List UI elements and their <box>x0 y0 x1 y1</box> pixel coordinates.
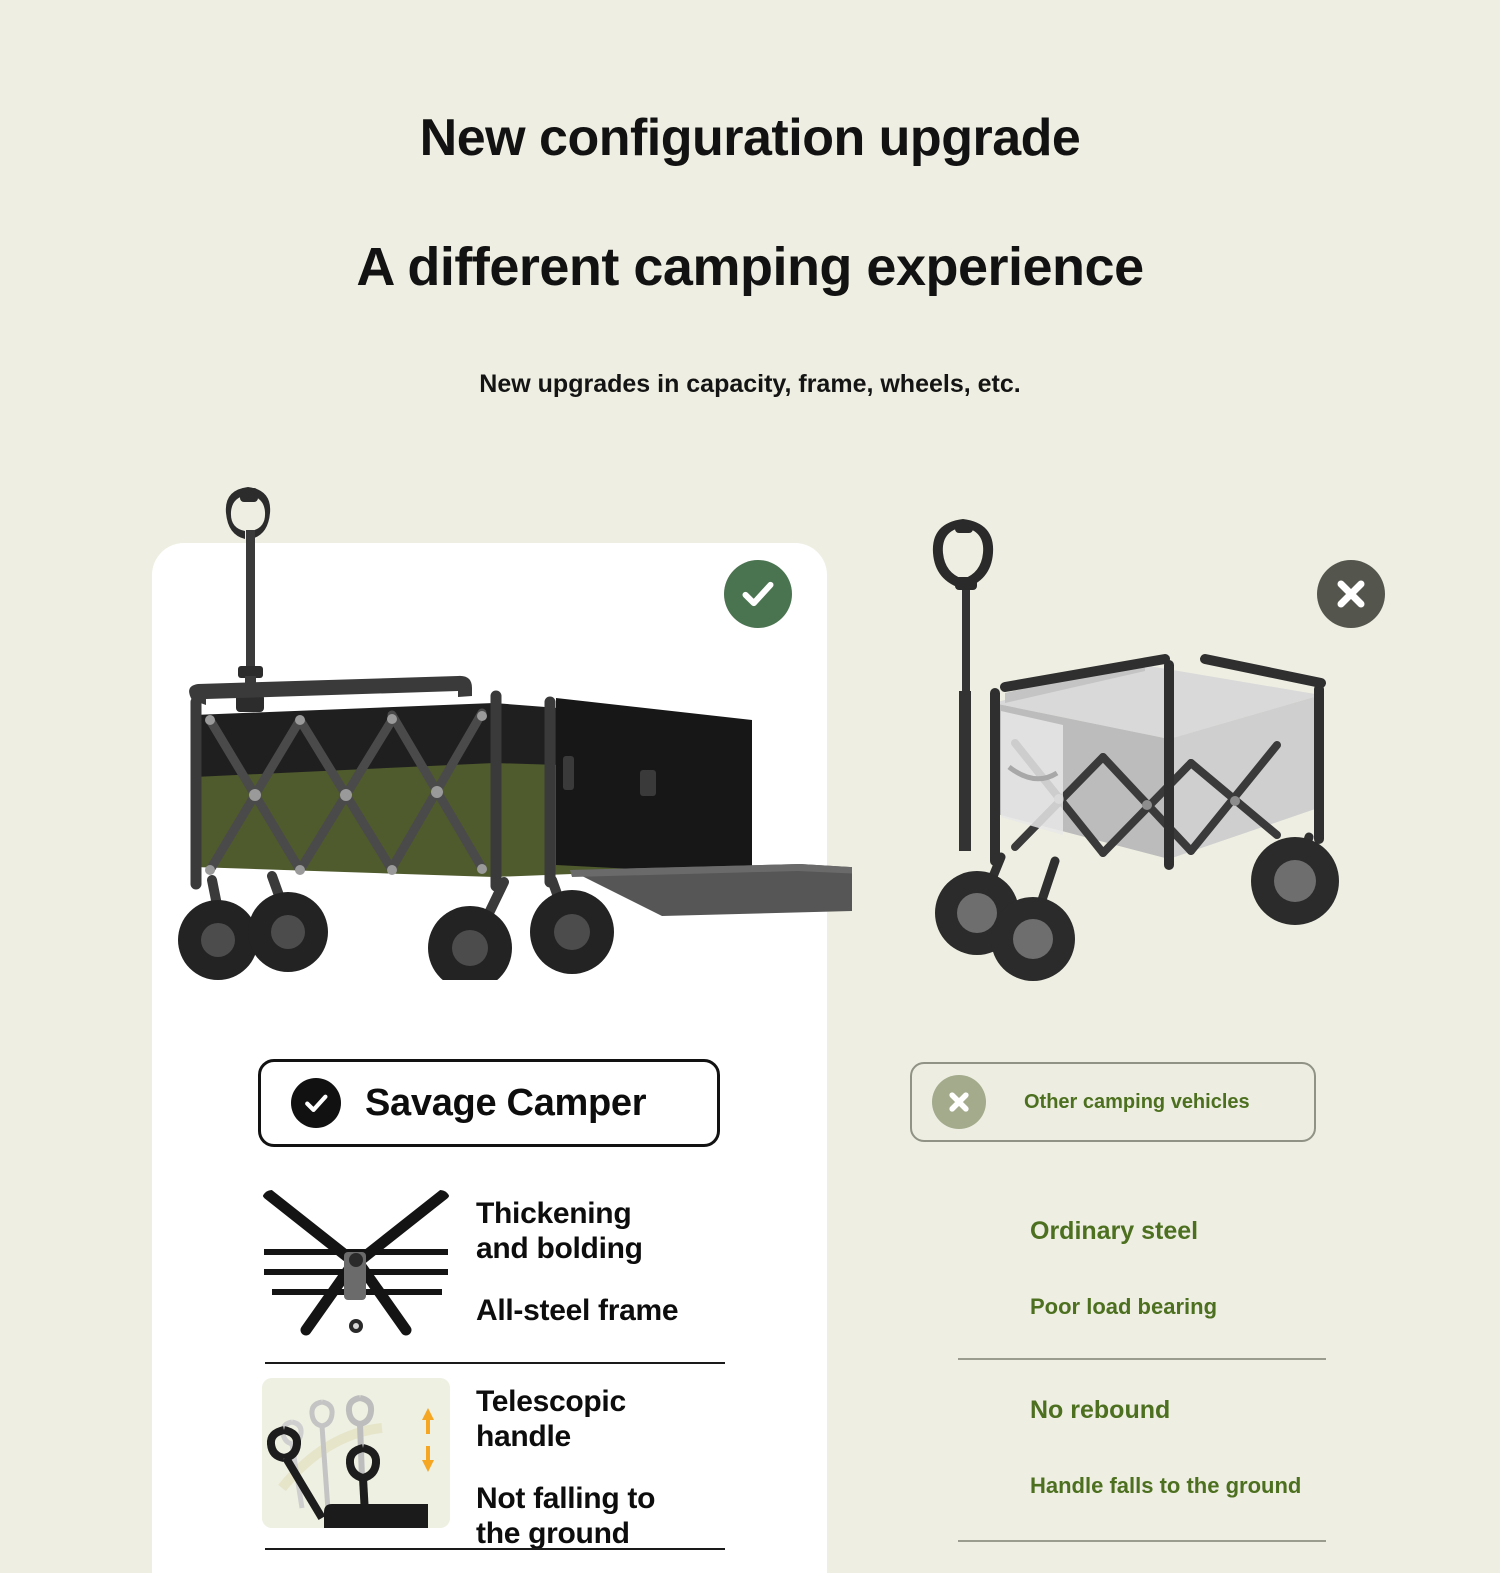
divider-right-2 <box>958 1540 1326 1542</box>
page-title-primary: New configuration upgrade <box>0 108 1500 168</box>
right-product-image <box>905 505 1385 985</box>
brand-label: Savage Camper <box>365 1082 646 1125</box>
x-circle-icon <box>1317 560 1385 628</box>
left-product-image <box>152 470 852 980</box>
divider-left-1 <box>265 1362 725 1364</box>
right-feature-handle: No rebound Handle falls to the ground <box>1030 1396 1301 1499</box>
feature-title-handle: Telescopic handle <box>476 1384 728 1455</box>
feature-subtitle-handle: Not falling tothe ground <box>476 1481 728 1552</box>
page-title-secondary: A different camping experience <box>0 236 1500 298</box>
telescopic-handle-photo <box>262 1378 450 1528</box>
feature-subtitle-frame: All-steel frame <box>476 1293 678 1328</box>
steel-x-frame-photo <box>262 1190 450 1340</box>
x-circle-filled-icon <box>932 1075 986 1129</box>
feature-text-handle: Telescopic handle Not falling tothe grou… <box>476 1378 728 1552</box>
right-feature-subtitle-frame: Poor load bearing <box>1030 1294 1217 1320</box>
other-products-label: Other camping vehicles <box>1024 1091 1250 1114</box>
header-block: New configuration upgrade A different ca… <box>0 0 1500 399</box>
feature-title-frame: Thickeningand bolding <box>476 1196 678 1267</box>
other-products-badge[interactable]: Other camping vehicles <box>910 1062 1316 1142</box>
page-subtitle: New upgrades in capacity, frame, wheels,… <box>0 370 1500 399</box>
divider-right-1 <box>958 1358 1326 1360</box>
divider-left-2 <box>265 1548 725 1550</box>
right-feature-title-handle: No rebound <box>1030 1396 1301 1425</box>
feature-text-frame: Thickeningand bolding All-steel frame <box>476 1190 678 1328</box>
feature-row-handle: Telescopic handle Not falling tothe grou… <box>262 1378 728 1552</box>
feature-row-frame: Thickeningand bolding All-steel frame <box>262 1190 728 1340</box>
right-feature-title-frame: Ordinary steel <box>1030 1217 1217 1246</box>
brand-badge[interactable]: Savage Camper <box>258 1059 720 1147</box>
right-feature-subtitle-handle: Handle falls to the ground <box>1030 1473 1301 1499</box>
check-circle-icon <box>724 560 792 628</box>
right-feature-frame: Ordinary steel Poor load bearing <box>1030 1217 1217 1320</box>
check-circle-filled-icon <box>291 1078 341 1128</box>
